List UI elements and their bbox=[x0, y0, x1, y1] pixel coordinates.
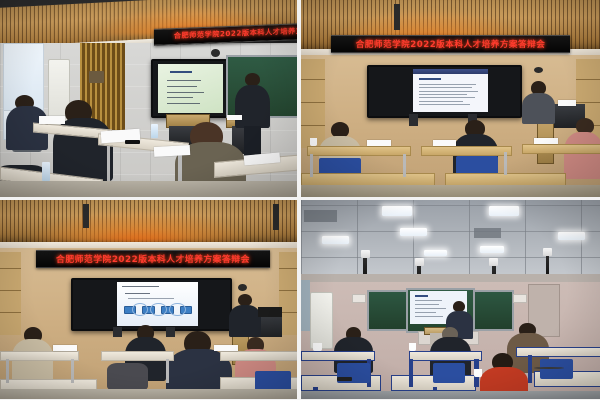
presenter-body bbox=[235, 85, 271, 128]
wall-speaker-left bbox=[352, 294, 366, 304]
air-conditioner bbox=[310, 292, 333, 350]
floor bbox=[0, 389, 297, 399]
slide-line bbox=[415, 308, 447, 309]
ceiling-speaker bbox=[361, 250, 370, 258]
chalkboard-right bbox=[471, 290, 514, 332]
slide-line bbox=[167, 86, 197, 87]
documents bbox=[433, 140, 457, 146]
camera-mount bbox=[211, 49, 220, 57]
photo-collage: 合肥师范学院2022版本科人才培养方 bbox=[0, 0, 600, 400]
ceiling-light bbox=[558, 232, 585, 240]
window-blind bbox=[301, 280, 310, 332]
chalkboard-left bbox=[367, 290, 410, 332]
slide-line bbox=[419, 97, 475, 98]
desk-row bbox=[0, 351, 79, 361]
ceiling-light bbox=[489, 206, 519, 216]
water-bottle bbox=[42, 162, 51, 182]
desk-leg bbox=[403, 154, 406, 178]
ceiling-glow bbox=[24, 208, 256, 242]
collage-panel-top-left[interactable]: 合肥师范学院2022版本科人才培养方 bbox=[0, 0, 297, 197]
desk-leg bbox=[6, 359, 9, 383]
slide-line bbox=[122, 286, 159, 287]
cup bbox=[313, 343, 322, 351]
flow-circle bbox=[169, 303, 186, 316]
slide-line bbox=[167, 103, 200, 104]
slide-heading bbox=[419, 78, 442, 80]
wall-lamp bbox=[89, 71, 104, 83]
slide-line bbox=[167, 97, 193, 98]
slide-line bbox=[167, 92, 204, 93]
display-stand bbox=[409, 114, 418, 126]
slide-line bbox=[415, 300, 442, 301]
led-banner-bottom-left: 合肥师范学院2022版本科人才培养方案答辩会 bbox=[36, 250, 271, 268]
wall-display bbox=[151, 59, 229, 118]
led-banner-text: 合肥师范学院2022版本科人才培养方 bbox=[174, 26, 297, 41]
ceiling-hook bbox=[273, 204, 279, 230]
flow-circle bbox=[132, 303, 149, 316]
led-banner-text: 合肥师范学院2022版本科人才培养方案答辩会 bbox=[56, 252, 250, 265]
water-bottle bbox=[151, 124, 158, 138]
ceiling-light bbox=[322, 236, 349, 244]
chair bbox=[433, 363, 466, 383]
desk-row bbox=[101, 351, 174, 361]
large-display bbox=[71, 278, 231, 332]
collage-panel-bottom-right[interactable] bbox=[301, 200, 600, 399]
slide-heading bbox=[415, 295, 429, 297]
slide-line bbox=[419, 91, 478, 92]
desk-leg bbox=[166, 359, 169, 383]
ceiling-tile-dark bbox=[474, 228, 501, 238]
slide-line bbox=[415, 312, 437, 313]
collage-panel-top-right[interactable]: 合肥师范学院2022版本科人才培养方案答辩会 bbox=[301, 0, 600, 197]
slide-line bbox=[415, 304, 439, 305]
slide-line bbox=[419, 84, 477, 85]
led-banner-text: 合肥师范学院2022版本科人才培养方案答辩会 bbox=[356, 38, 546, 50]
documents bbox=[367, 140, 391, 146]
display-stand bbox=[166, 327, 175, 337]
documents bbox=[53, 345, 77, 351]
wall-speaker-right bbox=[513, 294, 527, 304]
floor bbox=[0, 181, 297, 197]
desk-row bbox=[522, 144, 600, 154]
ceiling-speaker bbox=[489, 258, 498, 266]
ceiling-projector bbox=[394, 4, 400, 30]
ceiling-light bbox=[480, 246, 504, 253]
presenter-head bbox=[245, 73, 260, 86]
slide-line bbox=[419, 104, 471, 105]
presenter-paper bbox=[227, 115, 242, 120]
phone bbox=[125, 140, 140, 144]
wall-upper bbox=[301, 274, 600, 282]
desk-row bbox=[421, 146, 513, 156]
slide-line bbox=[125, 293, 149, 294]
documents bbox=[39, 116, 66, 124]
collage-panel-bottom-left[interactable]: 合肥师范学院2022版本科人才培养方案答辩会 bbox=[0, 200, 297, 399]
presenter-body bbox=[229, 305, 262, 337]
ceiling-light bbox=[400, 228, 427, 236]
slide-line bbox=[128, 298, 174, 299]
slide-line bbox=[419, 87, 472, 88]
desk-row bbox=[301, 351, 375, 361]
slide-titlebar bbox=[413, 69, 489, 74]
documents bbox=[534, 138, 558, 144]
desk-row bbox=[220, 351, 297, 361]
desk-leg bbox=[504, 152, 507, 176]
cup bbox=[474, 369, 481, 377]
floor bbox=[301, 391, 600, 399]
slide-line bbox=[167, 80, 201, 81]
documents bbox=[154, 145, 190, 157]
desk-row bbox=[409, 351, 483, 361]
chair bbox=[540, 359, 573, 379]
ceiling-light bbox=[382, 206, 412, 216]
monitor bbox=[258, 307, 282, 317]
presentation-slide bbox=[413, 69, 489, 111]
attendee-body bbox=[564, 132, 600, 179]
documents bbox=[214, 345, 238, 351]
floor bbox=[301, 185, 600, 197]
display-stand bbox=[113, 327, 122, 337]
phone bbox=[337, 377, 352, 381]
ceiling-projector bbox=[83, 204, 89, 228]
desk-leg bbox=[528, 355, 532, 383]
desk-leg bbox=[310, 154, 313, 178]
ceiling-speaker bbox=[415, 258, 424, 266]
cup bbox=[409, 343, 416, 351]
slide-title-line bbox=[170, 71, 192, 73]
slide-line bbox=[419, 101, 463, 102]
bookshelf-left bbox=[0, 252, 21, 336]
slide-line bbox=[419, 94, 467, 95]
ceiling-tile-dark bbox=[304, 210, 337, 222]
cup bbox=[310, 138, 317, 146]
large-display bbox=[367, 65, 523, 118]
presentation-slide bbox=[158, 64, 223, 113]
desk-leg bbox=[71, 359, 74, 383]
backpack bbox=[107, 363, 149, 391]
slide-line bbox=[415, 316, 443, 317]
presentation-slide bbox=[117, 282, 198, 326]
led-banner-top-right: 合肥师范学院2022版本科人才培养方案答辩会 bbox=[331, 35, 570, 53]
podium-paper bbox=[558, 100, 576, 106]
wall-camera bbox=[534, 67, 543, 73]
desk-leg bbox=[409, 359, 413, 387]
desk-row bbox=[307, 146, 411, 156]
flow-circle bbox=[150, 303, 167, 316]
bookshelf-left bbox=[301, 59, 325, 148]
presenter-body bbox=[522, 93, 555, 125]
ceiling-light bbox=[424, 250, 448, 256]
wall-camera bbox=[238, 284, 247, 291]
ceiling-speaker bbox=[543, 248, 552, 256]
